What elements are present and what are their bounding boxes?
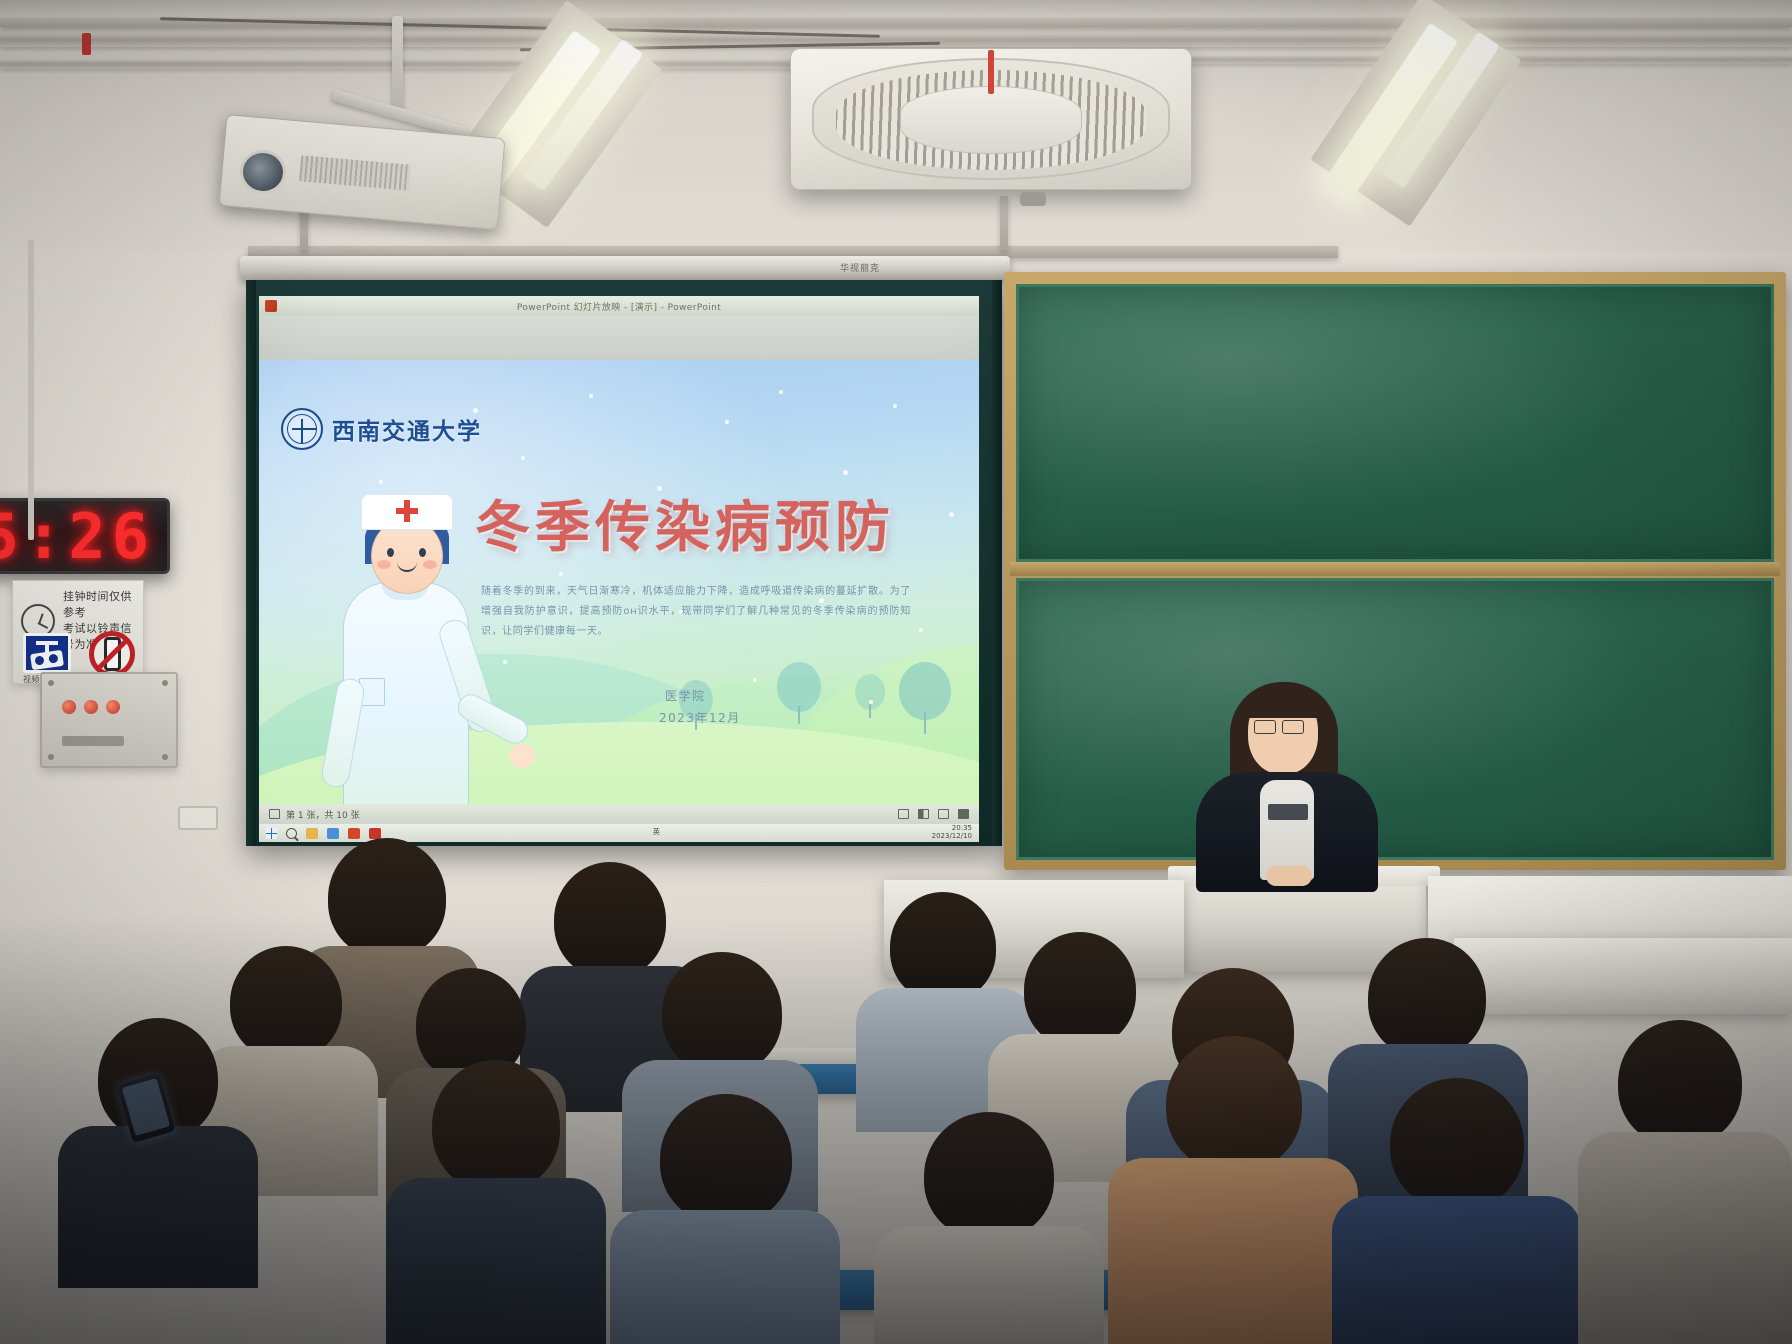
presenter-hands — [1266, 866, 1312, 886]
reading-view-icon[interactable] — [938, 809, 949, 819]
screen-edge-right — [992, 280, 1002, 846]
exam-notice-sign: 挂钟时间仅供参考 考试以铃声信号为准 视频监控区域 考场内禁止使用手机及电子工具 — [12, 580, 144, 684]
search-icon[interactable] — [286, 828, 297, 839]
pdf-icon[interactable] — [369, 828, 381, 839]
panel-knob-2[interactable] — [84, 700, 98, 714]
student-body — [1332, 1196, 1582, 1344]
projector-mount-rod — [392, 16, 403, 112]
slide-date: 2023年12月 — [659, 708, 741, 730]
snow-dot — [779, 390, 783, 394]
panel-screw-br — [162, 754, 168, 760]
student-head — [1166, 1036, 1302, 1172]
tree-trunk — [924, 712, 926, 734]
nurse-hand — [509, 744, 535, 768]
powerpoint-icon — [265, 300, 277, 312]
presenter-glasses-left — [1254, 720, 1276, 734]
nurse-cap-cross-horizontal — [396, 508, 418, 514]
sorter-view-icon[interactable] — [918, 809, 929, 819]
student-body — [610, 1210, 840, 1344]
student-15 — [1332, 1078, 1582, 1344]
ceiling-pipe-secondary — [0, 60, 860, 69]
tree-canopy — [777, 662, 821, 712]
slideshow-icon[interactable] — [958, 809, 969, 819]
panel-screw-tl — [48, 680, 54, 686]
ac-indicator — [988, 50, 994, 94]
student-head — [662, 952, 782, 1074]
student-head — [924, 1112, 1054, 1240]
student-head — [890, 892, 996, 1002]
windows-start-icon[interactable] — [266, 828, 277, 839]
browser-icon[interactable] — [327, 828, 339, 839]
student-12 — [610, 1094, 840, 1344]
snow-dot — [949, 512, 954, 517]
ac-sensor — [1020, 192, 1046, 206]
roller-brand-label: 华视丽克 — [840, 261, 880, 274]
university-name: 西南交通大学 — [332, 412, 482, 446]
student-14 — [1108, 1036, 1358, 1344]
panel-screw-tr — [162, 680, 168, 686]
tree-4 — [899, 656, 951, 734]
taskbar-clock-date: 2023/12/10 — [932, 833, 972, 841]
snow-dot — [589, 394, 593, 398]
slide-body-text: 随着冬季的到来，天气日渐寒冷，机体适应能力下降，造成呼吸道传染病的蔓延扩散。为了… — [481, 582, 911, 642]
normal-view-icon[interactable] — [898, 809, 909, 819]
panel-knob-3[interactable] — [106, 700, 120, 714]
university-logo: 西南交通大学 — [281, 408, 482, 450]
student-body — [1108, 1158, 1358, 1344]
powerpoint-taskbar-icon[interactable] — [348, 828, 360, 839]
classroom-scene: 20:35:26 挂钟时间仅供参考 考试以铃声信号为准 视频监控区域 考场内禁止… — [0, 0, 1792, 1344]
presenter-glasses-right — [1282, 720, 1304, 734]
student-head — [1390, 1078, 1524, 1210]
nurse-eye-right — [419, 548, 426, 557]
snow-dot — [753, 678, 757, 682]
ime-indicator[interactable]: 英 — [653, 828, 660, 836]
presenter-at-podium — [1186, 676, 1386, 888]
ceiling-slab — [0, 0, 1792, 16]
camera-body — [30, 650, 64, 670]
student-13 — [874, 1112, 1104, 1344]
student-body — [874, 1226, 1104, 1344]
powerpoint-status-bar[interactable]: 第 1 张，共 10 张 — [259, 804, 979, 824]
student-head — [1024, 932, 1136, 1048]
tree-trunk — [798, 706, 800, 724]
snow-dot — [725, 420, 729, 424]
notice-line-1: 挂钟时间仅供参考 — [63, 589, 143, 621]
powerpoint-window[interactable]: PowerPoint 幻灯片放映 - [演示] - PowerPoint — [259, 296, 979, 842]
surveillance-camera-icon — [23, 633, 71, 673]
slide-counter: 第 1 张，共 10 张 — [286, 808, 360, 821]
no-mobile-phone-icon — [89, 631, 135, 677]
chalkboard-panel-top[interactable] — [1016, 284, 1774, 562]
slide-thumb-icon — [269, 809, 280, 819]
student-body — [58, 1126, 258, 1288]
snow-dot — [843, 470, 848, 475]
powerpoint-title-text: PowerPoint 幻灯片放映 - [演示] - PowerPoint — [517, 300, 721, 313]
powerpoint-ribbon-area — [259, 316, 979, 360]
student-head — [1368, 938, 1486, 1058]
powerpoint-titlebar: PowerPoint 幻灯片放映 - [演示] - PowerPoint — [259, 296, 979, 316]
tree-trunk — [869, 704, 871, 718]
student-16 — [1578, 1020, 1792, 1344]
taskbar-tray[interactable]: 英 — [653, 829, 660, 837]
slide-canvas[interactable]: 西南交通大学 — [259, 360, 979, 804]
snow-dot — [869, 700, 873, 704]
status-bar-right — [898, 809, 969, 819]
nurse-cheek-left — [377, 560, 391, 569]
nurse-cheek-right — [423, 560, 437, 569]
student-head — [328, 838, 446, 958]
taskbar-clock[interactable]: 20:35 2023/12/10 — [932, 825, 972, 840]
snow-dot — [893, 404, 897, 408]
student-body — [386, 1178, 606, 1344]
panel-label-slot — [62, 736, 124, 746]
ceiling-hanger-2 — [1000, 196, 1008, 250]
seal-crossbar — [292, 428, 316, 430]
folder-icon[interactable] — [306, 828, 318, 839]
led-clock-time: 20:35:26 — [0, 500, 167, 573]
wall-conduit — [28, 240, 34, 540]
presenter-shirt-print — [1268, 804, 1308, 820]
snow-dot — [559, 572, 563, 576]
student-11 — [386, 1060, 606, 1344]
university-seal-icon — [281, 408, 323, 450]
presenter-inner-shirt — [1260, 780, 1314, 880]
chalkboard-panel-bottom[interactable] — [1016, 578, 1774, 860]
panel-knob-1[interactable] — [62, 700, 76, 714]
nurse-eye-left — [387, 548, 394, 557]
panel-screw-bl — [48, 754, 54, 760]
projection-screen-surface[interactable]: PowerPoint 幻灯片放映 - [演示] - PowerPoint — [259, 296, 979, 842]
student-head — [1618, 1020, 1742, 1146]
screen-edge-left — [246, 280, 256, 846]
screen-roller-housing[interactable] — [240, 256, 1010, 280]
wall-outlet — [178, 806, 218, 830]
status-bar-left: 第 1 张，共 10 张 — [269, 808, 360, 821]
tree-3 — [855, 670, 885, 718]
chalkboard-divider — [1010, 562, 1780, 576]
electrical-panel — [40, 672, 178, 768]
led-clock: 20:35:26 — [0, 498, 170, 574]
snow-dot — [521, 456, 525, 460]
student-head — [660, 1094, 792, 1224]
slide-organization: 医学院 — [665, 686, 706, 708]
tree-2 — [777, 658, 821, 724]
student-10 — [58, 1018, 258, 1288]
presenter-hair-front — [1244, 684, 1322, 718]
snow-dot — [919, 628, 923, 632]
slide-title: 冬季传染病预防 — [475, 482, 895, 562]
ac-center-plate — [900, 86, 1082, 154]
student-body — [1578, 1132, 1792, 1344]
pipe-marker-red-1 — [82, 33, 91, 55]
student-head — [432, 1060, 560, 1192]
